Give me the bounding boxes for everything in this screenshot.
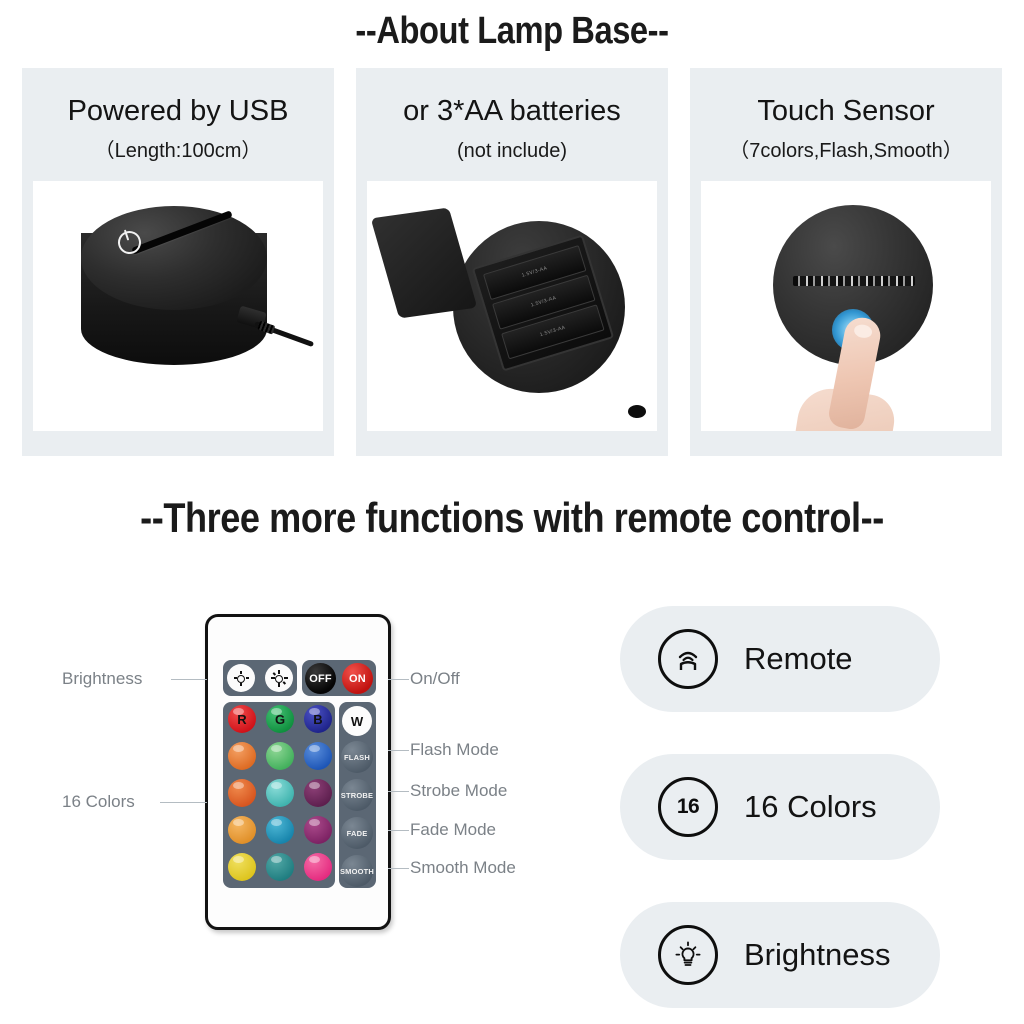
brightness-down-button[interactable] — [227, 664, 255, 692]
color-button-white[interactable]: W — [342, 706, 372, 736]
leader-line — [388, 679, 409, 680]
feature-label: Remote — [744, 641, 853, 677]
color-button[interactable] — [304, 779, 332, 807]
rubber-foot — [628, 405, 646, 418]
battery-cover — [371, 208, 478, 319]
color-button[interactable] — [266, 779, 294, 807]
power-off-button[interactable]: OFF — [305, 663, 336, 694]
sun-large-icon — [272, 671, 287, 686]
color-button[interactable] — [228, 853, 256, 881]
card-subtitle: (not include) — [457, 139, 567, 163]
color-button[interactable] — [266, 816, 294, 844]
leader-line — [388, 868, 409, 869]
leader-line — [388, 750, 409, 751]
color-button[interactable] — [266, 742, 294, 770]
touch-sensor-photo — [701, 181, 991, 431]
color-button[interactable] — [266, 853, 294, 881]
brightness-up-button[interactable] — [265, 664, 293, 692]
callout-smooth-mode: Smooth Mode — [410, 858, 516, 878]
usb-lamp-base-photo — [33, 181, 323, 431]
remote-signal-icon — [658, 629, 718, 689]
remote-body: OFF ON R G B W FLASH STROBE FADE SM — [205, 614, 391, 930]
feature-label: Brightness — [744, 937, 890, 973]
flash-mode-button[interactable]: FLASH — [341, 741, 373, 773]
feature-pill-remote: Remote — [620, 606, 940, 712]
color-button[interactable] — [304, 816, 332, 844]
color-button-blue[interactable]: B — [304, 705, 332, 733]
callout-16-colors: 16 Colors — [62, 792, 135, 812]
leader-line — [160, 802, 207, 803]
feature-pill-16-colors: 16 16 Colors — [620, 754, 940, 860]
card-touch-sensor: Touch Sensor （7colors,Flash,Smooth） — [690, 68, 1002, 456]
about-lamp-base-heading: --About Lamp Base-- — [72, 8, 953, 54]
badge-number: 16 — [677, 795, 699, 819]
lamp-base-card-row: Powered by USB （Length:100cm） or 3*AA ba… — [22, 68, 1002, 456]
lamp-base-top-surface — [81, 206, 267, 310]
color-button-green[interactable]: G — [266, 705, 294, 733]
remote-control-illustration: OFF ON R G B W FLASH STROBE FADE SM — [205, 614, 391, 930]
fade-mode-button[interactable]: FADE — [341, 817, 373, 849]
callout-fade-mode: Fade Mode — [410, 820, 496, 840]
card-subtitle: （Length:100cm） — [95, 139, 262, 163]
card-aa-batteries: or 3*AA batteries (not include) 1.5V/3-A… — [356, 68, 668, 456]
feature-pill-brightness: Brightness — [620, 902, 940, 1008]
leader-line — [388, 830, 409, 831]
battery-compartment-photo: 1.5V/3-AA 1.5V/3-AA 1.5V/3-AA — [367, 181, 657, 431]
color-button[interactable] — [304, 742, 332, 770]
sun-small-icon — [234, 671, 249, 686]
led-strip — [793, 276, 915, 286]
leader-line — [388, 791, 409, 792]
color-button-red[interactable]: R — [228, 705, 256, 733]
leader-line — [171, 679, 207, 680]
power-on-button[interactable]: ON — [342, 663, 373, 694]
lightbulb-icon — [658, 925, 718, 985]
color-button[interactable] — [228, 742, 256, 770]
smooth-mode-button[interactable]: SMOOTH — [341, 855, 373, 887]
callout-strobe-mode: Strobe Mode — [410, 781, 507, 801]
sixteen-circle-icon: 16 — [658, 777, 718, 837]
color-button[interactable] — [228, 816, 256, 844]
infographic-page: --About Lamp Base-- Powered by USB （Leng… — [0, 0, 1024, 1024]
card-powered-by-usb: Powered by USB （Length:100cm） — [22, 68, 334, 456]
strobe-mode-button[interactable]: STROBE — [341, 779, 373, 811]
card-title: or 3*AA batteries — [403, 94, 621, 128]
callout-brightness: Brightness — [62, 669, 142, 689]
callout-on-off: On/Off — [410, 669, 460, 689]
callout-flash-mode: Flash Mode — [410, 740, 499, 760]
color-button[interactable] — [228, 779, 256, 807]
three-functions-heading: --Three more functions with remote contr… — [72, 492, 953, 544]
feature-label: 16 Colors — [744, 789, 877, 825]
color-button[interactable] — [304, 853, 332, 881]
card-title: Touch Sensor — [757, 94, 934, 128]
card-title: Powered by USB — [68, 94, 289, 128]
card-subtitle: （7colors,Flash,Smooth） — [729, 139, 962, 163]
